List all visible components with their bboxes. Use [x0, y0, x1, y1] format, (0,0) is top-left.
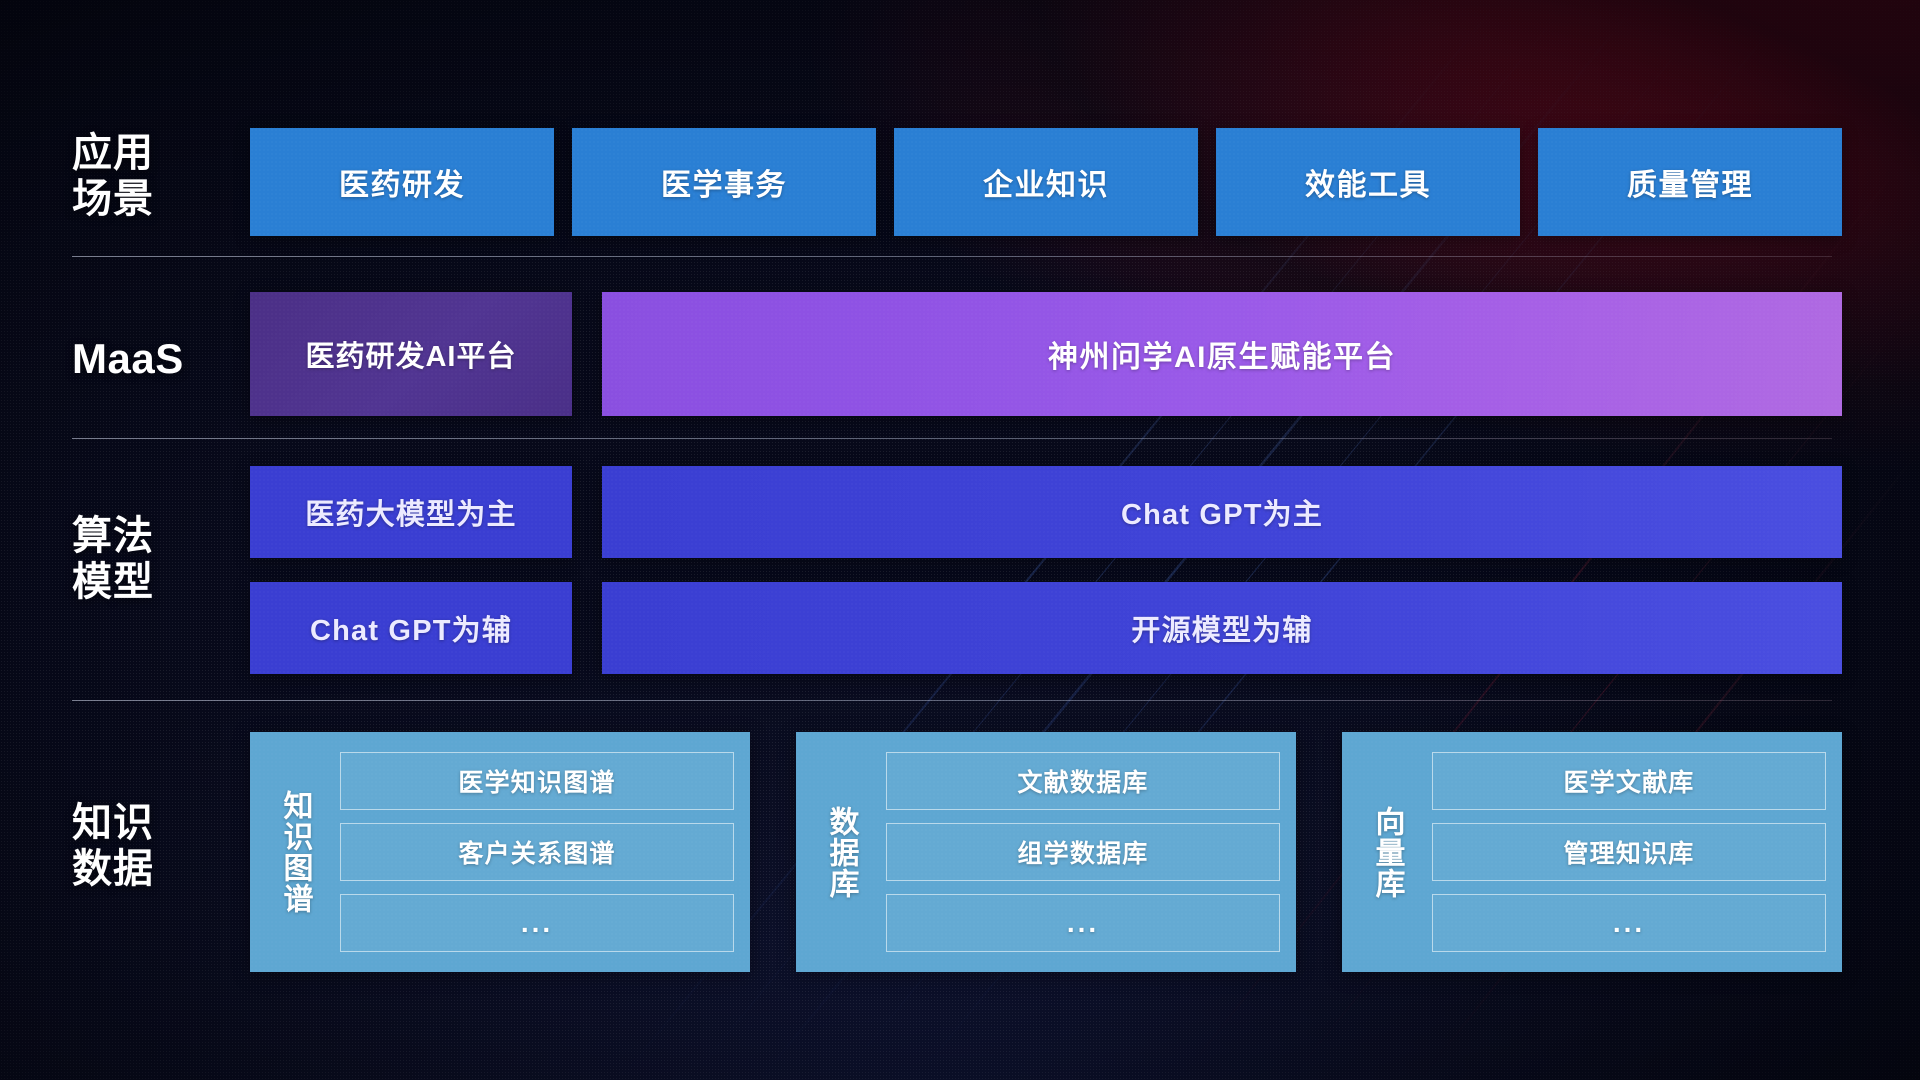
- divider-algorithm-knowledge: [72, 700, 1832, 701]
- knowledge-panel-database[interactable]: 数据库 文献数据库 组学数据库 ...: [796, 732, 1296, 972]
- app-box-medical-affairs[interactable]: 医学事务: [572, 128, 876, 236]
- application-box-group: 医药研发 医学事务 企业知识 效能工具 质量管理: [250, 128, 1842, 236]
- app-box-drug-rnd-label: 医药研发: [339, 160, 465, 204]
- app-box-medical-affairs-label: 医学事务: [661, 160, 787, 204]
- row-label-algorithm: 算法 模型: [72, 513, 208, 606]
- maas-box-shenzhou-platform-label: 神州问学AI原生赋能平台: [1048, 332, 1396, 376]
- app-box-efficiency-tools[interactable]: 效能工具: [1216, 128, 1520, 236]
- divider-application-maas: [72, 256, 1832, 257]
- divider-maas-algorithm: [72, 438, 1832, 439]
- algorithm-row-primary: 医药大模型为主 Chat GPT为主: [250, 466, 1842, 558]
- knowledge-item-vector-more[interactable]: ...: [1432, 894, 1826, 952]
- algo-box-drug-large-model-primary[interactable]: 医药大模型为主: [250, 466, 572, 558]
- knowledge-item-management-knowledge-library[interactable]: 管理知识库: [1432, 823, 1826, 881]
- knowledge-panel-database-label: 数据库: [810, 744, 872, 960]
- app-box-enterprise-knowledge[interactable]: 企业知识: [894, 128, 1198, 236]
- row-label-application-line1: 应用: [72, 130, 208, 176]
- maas-box-shenzhou-platform[interactable]: 神州问学AI原生赋能平台: [602, 292, 1842, 416]
- row-label-maas-text: MaaS: [72, 335, 208, 384]
- row-label-maas: MaaS: [72, 335, 208, 384]
- knowledge-panel-graph[interactable]: 知识图谱 医学知识图谱 客户关系图谱 ...: [250, 732, 750, 972]
- algorithm-row-secondary: Chat GPT为辅 开源模型为辅: [250, 582, 1842, 674]
- algo-box-opensource-secondary-label: 开源模型为辅: [1131, 607, 1312, 649]
- row-label-knowledge: 知识 数据: [72, 800, 208, 893]
- row-label-knowledge-line2: 数据: [72, 846, 208, 892]
- row-label-knowledge-line1: 知识: [72, 800, 208, 846]
- knowledge-panel-graph-items: 医学知识图谱 客户关系图谱 ...: [326, 744, 734, 960]
- knowledge-item-medical-knowledge-graph[interactable]: 医学知识图谱: [340, 752, 734, 810]
- maas-box-drug-rnd-ai-platform-label: 医药研发AI平台: [305, 333, 516, 375]
- maas-box-group: 医药研发AI平台 神州问学AI原生赋能平台: [250, 292, 1842, 416]
- app-box-efficiency-tools-label: 效能工具: [1305, 160, 1431, 204]
- knowledge-panel-group: 知识图谱 医学知识图谱 客户关系图谱 ... 数据库 文献数据库 组学数据库 .…: [250, 732, 1842, 972]
- algo-box-chatgpt-primary[interactable]: Chat GPT为主: [602, 466, 1842, 558]
- row-label-algorithm-line1: 算法: [72, 513, 208, 559]
- knowledge-panel-database-items: 文献数据库 组学数据库 ...: [872, 744, 1280, 960]
- knowledge-panel-vector-items: 医学文献库 管理知识库 ...: [1418, 744, 1826, 960]
- row-label-algorithm-line2: 模型: [72, 559, 208, 605]
- app-box-enterprise-knowledge-label: 企业知识: [983, 160, 1109, 204]
- algo-box-chatgpt-primary-label: Chat GPT为主: [1121, 491, 1323, 533]
- row-label-application: 应用 场景: [72, 130, 208, 223]
- algo-box-opensource-secondary[interactable]: 开源模型为辅: [602, 582, 1842, 674]
- algo-box-drug-large-model-primary-label: 医药大模型为主: [305, 491, 516, 533]
- knowledge-item-graph-more[interactable]: ...: [340, 894, 734, 952]
- knowledge-item-literature-database[interactable]: 文献数据库: [886, 752, 1280, 810]
- knowledge-panel-vector-label: 向量库: [1356, 744, 1418, 960]
- app-box-drug-rnd[interactable]: 医药研发: [250, 128, 554, 236]
- knowledge-panel-graph-label: 知识图谱: [264, 744, 326, 960]
- algo-box-chatgpt-secondary[interactable]: Chat GPT为辅: [250, 582, 572, 674]
- algo-box-chatgpt-secondary-label: Chat GPT为辅: [310, 607, 512, 649]
- maas-box-drug-rnd-ai-platform[interactable]: 医药研发AI平台: [250, 292, 572, 416]
- slide-canvas: 应用 场景 医药研发 医学事务 企业知识 效能工具 质量管理 MaaS: [0, 0, 1920, 1080]
- app-box-quality-management-label: 质量管理: [1627, 160, 1753, 204]
- architecture-diagram: 应用 场景 医药研发 医学事务 企业知识 效能工具 质量管理 MaaS: [0, 0, 1920, 1080]
- app-box-quality-management[interactable]: 质量管理: [1538, 128, 1842, 236]
- knowledge-item-database-more[interactable]: ...: [886, 894, 1280, 952]
- knowledge-item-omics-database[interactable]: 组学数据库: [886, 823, 1280, 881]
- row-label-application-line2: 场景: [72, 176, 208, 222]
- knowledge-panel-vector[interactable]: 向量库 医学文献库 管理知识库 ...: [1342, 732, 1842, 972]
- knowledge-item-medical-literature-library[interactable]: 医学文献库: [1432, 752, 1826, 810]
- knowledge-item-customer-relation-graph[interactable]: 客户关系图谱: [340, 823, 734, 881]
